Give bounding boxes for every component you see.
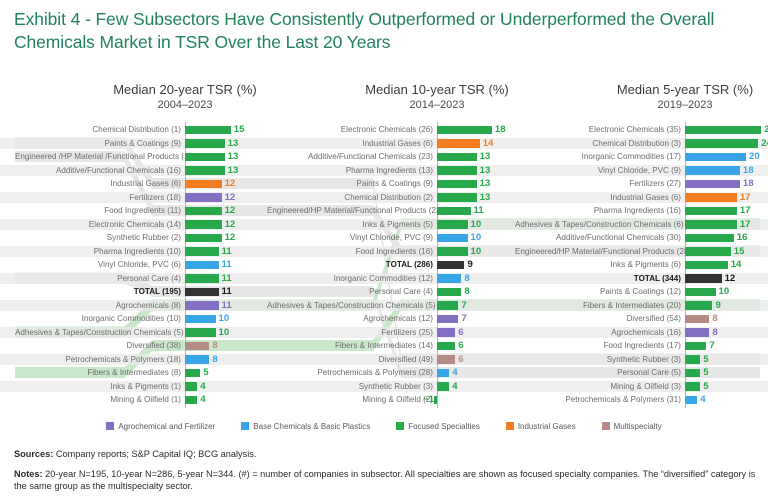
value-bar: [437, 126, 492, 135]
value-bar: [437, 342, 455, 351]
chart-row: Engineered/HP Material/Functional Produc…: [515, 246, 768, 257]
chart-row: Pharma Ingredients (16)17: [515, 205, 768, 216]
value-label: 12: [225, 178, 236, 189]
row-label: Vinyl Chloride, PVC (9): [515, 165, 681, 176]
chart-row: Engineered /HP Material /Functional Prod…: [15, 151, 280, 162]
row-label: TOTAL (344): [515, 273, 681, 284]
value-label: 13: [480, 178, 491, 189]
value-label: 8: [212, 354, 217, 365]
panel-title-5yr: Median 5-year TSR (%): [560, 82, 768, 98]
value-bar: [437, 139, 480, 148]
row-label: Food Ingredients (11): [15, 205, 181, 216]
legend-item: Industrial Gases: [506, 422, 576, 431]
row-label: Fibers & Intermediates (8): [15, 367, 181, 378]
row-label: Personal Care (4): [267, 286, 433, 297]
value-label: 18: [743, 178, 754, 189]
value-bar: [185, 342, 209, 351]
chart-row: Agrochemicals (8)11: [15, 300, 280, 311]
value-bar: [685, 207, 737, 216]
value-label: −1: [407, 394, 434, 405]
row-label: Engineered/HP Material/Functional Produc…: [515, 246, 681, 257]
row-label: Additive/Functional Chemicals (23): [267, 151, 433, 162]
row-label: Inks & Pigments (1): [15, 381, 181, 392]
value-bar: [685, 126, 761, 135]
value-label: 11: [222, 259, 232, 270]
chart-row: Inorganic Commodities (10)10: [15, 313, 280, 324]
value-label: 10: [219, 327, 230, 338]
value-label: 12: [225, 205, 236, 216]
chart-row: Vinyl Chloride, PVC (9)18: [515, 165, 768, 176]
chart-row: Fibers & Intermediates (20)9: [515, 300, 768, 311]
value-label: 17: [740, 205, 751, 216]
chart-row: Petrochemicals & Polymers (31)4: [515, 394, 768, 405]
sources-text: Company reports; S&P Capital IQ; BCG ana…: [53, 449, 256, 459]
value-bar: [685, 288, 716, 297]
value-label: 18: [495, 124, 506, 135]
row-label: Personal Care (4): [15, 273, 181, 284]
chart-row: Vinyl Chloride, PVC (9)10: [267, 232, 532, 243]
legend-label: Multispecialty: [614, 422, 662, 431]
row-label: Synthetic Rubber (3): [515, 354, 681, 365]
chart-row: Food Ingredients (11)12: [15, 205, 280, 216]
row-label: Paints & Coatings (12): [515, 286, 681, 297]
value-bar: [437, 301, 458, 310]
row-label: TOTAL (286): [267, 259, 433, 270]
legend-label: Base Chemicals & Basic Plastics: [253, 422, 370, 431]
chart-row: TOTAL (195)11: [15, 286, 280, 297]
value-bar: [685, 261, 728, 270]
value-label: 11: [222, 273, 232, 284]
row-label: Diversified (49): [267, 354, 433, 365]
value-label: 7: [461, 300, 466, 311]
row-label: Additive/Functional Chemicals (30): [515, 232, 681, 243]
value-bar: [185, 234, 222, 243]
value-bar: [685, 301, 712, 310]
value-label: 8: [464, 273, 469, 284]
panel-subtitle-20yr: 2004–2023: [60, 98, 310, 112]
value-label: 13: [228, 138, 239, 149]
value-label: 11: [222, 300, 232, 311]
value-bar: [185, 274, 219, 283]
value-label: 11: [222, 246, 232, 257]
chart-row: Diversified (49)6: [267, 354, 532, 365]
chart-row: Inks & Pigments (6)14: [515, 259, 768, 270]
value-bar: [185, 328, 216, 337]
row-label: Diversified (54): [515, 313, 681, 324]
chart-row: Personal Care (4)8: [267, 286, 532, 297]
row-label: Engineered /HP Material /Functional Prod…: [15, 151, 181, 162]
value-bar: [685, 234, 734, 243]
legend-item: Base Chemicals & Basic Plastics: [241, 422, 370, 431]
value-bar: [185, 139, 225, 148]
value-bar: [685, 139, 758, 148]
chart-row: Vinyl Chloride, PVC (6)11: [15, 259, 280, 270]
value-bar: [685, 247, 731, 256]
value-label: 7: [461, 313, 466, 324]
value-bar: [437, 315, 458, 324]
value-bar: [185, 207, 222, 216]
value-label: 10: [719, 286, 730, 297]
value-label: 5: [703, 381, 708, 392]
chart-row: Mining & Oilfield (1)4: [15, 394, 280, 405]
row-label: Fibers & Intermediates (14): [267, 340, 433, 351]
chart-row: Diversified (38)8: [15, 340, 280, 351]
chart-row: Industrial Gases (6)12: [15, 178, 280, 189]
legend-swatch-icon: [506, 422, 514, 430]
chart-row: Synthetic Rubber (3)5: [515, 354, 768, 365]
legend-swatch-icon: [396, 422, 404, 430]
sources-line: Sources: Company reports; S&P Capital IQ…: [14, 448, 756, 461]
chart-row: Additive/Functional Chemicals (16)13: [15, 165, 280, 176]
value-label: 12: [725, 273, 736, 284]
legend-item: Multispecialty: [602, 422, 662, 431]
value-bar: [685, 180, 740, 189]
legend-item: Agrochemical and Fertilizer: [106, 422, 215, 431]
legend-label: Agrochemical and Fertilizer: [118, 422, 215, 431]
value-bar: [437, 382, 449, 391]
row-label: Additive/Functional Chemicals (16): [15, 165, 181, 176]
exhibit-title: Exhibit 4 - Few Subsectors Have Consiste…: [14, 8, 754, 54]
row-label: TOTAL (195): [15, 286, 181, 297]
row-label: Industrial Gases (6): [515, 192, 681, 203]
value-label: 18: [743, 165, 754, 176]
row-label: Pharma Ingredients (16): [515, 205, 681, 216]
chart-row: Electronic Chemicals (14)12: [15, 219, 280, 230]
row-label: Inks & Pigments (5): [267, 219, 433, 230]
chart-row: Pharma Ingredients (13)13: [267, 165, 532, 176]
value-bar: [437, 328, 455, 337]
chart-row: Petrochemicals & Polymers (18)8: [15, 354, 280, 365]
value-label: 24: [761, 138, 768, 149]
row-label: Food Ingredients (16): [267, 246, 433, 257]
chart-row: Petrochemicals & Polymers (28)4: [267, 367, 532, 378]
value-bar: [685, 396, 697, 405]
value-label: 17: [740, 219, 751, 230]
value-bar: [185, 396, 197, 405]
value-bar: [685, 166, 740, 175]
value-label: 6: [458, 354, 463, 365]
value-bar: [185, 382, 197, 391]
row-label: Adhesives & Tapes/Construction Chemicals…: [15, 327, 181, 338]
value-label: 6: [458, 340, 463, 351]
row-label: Synthetic Rubber (2): [15, 232, 181, 243]
value-label: 13: [480, 151, 491, 162]
value-bar: [185, 180, 222, 189]
legend-item: Focused Specialties: [396, 422, 480, 431]
row-label: Agrochemicals (16): [515, 327, 681, 338]
legend-swatch-icon: [241, 422, 249, 430]
row-label: Personal Care (5): [515, 367, 681, 378]
panel-header-20yr: Median 20-year TSR (%) 2004–2023: [60, 82, 310, 112]
value-label: 15: [234, 124, 245, 135]
value-bar: [437, 288, 461, 297]
value-label: 4: [452, 381, 457, 392]
value-bar: [685, 274, 722, 283]
row-label: Fibers & Intermediates (20): [515, 300, 681, 311]
value-label: 7: [709, 340, 714, 351]
value-bar: [437, 274, 461, 283]
panel-header-10yr: Median 10-year TSR (%) 2014–2023: [312, 82, 562, 112]
value-label: 10: [471, 219, 482, 230]
legend-label: Focused Specialties: [408, 422, 480, 431]
sources-label: Sources:: [14, 449, 53, 459]
chart-row: Food Ingredients (17)7: [515, 340, 768, 351]
row-label: Fertilizers (27): [515, 178, 681, 189]
chart-row: Electronic Chemicals (26)18: [267, 124, 532, 135]
row-label: Agrochemicals (12): [267, 313, 433, 324]
chart-row: Fertilizers (25)6: [267, 327, 532, 338]
chart-row: Diversified (54)8: [515, 313, 768, 324]
row-label: Food Ingredients (17): [515, 340, 681, 351]
value-bar: [185, 166, 225, 175]
chart-row: Adhesives & Tapes/Construction Chemicals…: [267, 300, 532, 311]
value-bar: [685, 328, 709, 337]
value-bar: [185, 288, 219, 297]
notes-label: Notes:: [14, 469, 43, 479]
row-label: Fertilizers (18): [15, 192, 181, 203]
chart-row: Adhesives & Tapes/Construction Chemicals…: [515, 219, 768, 230]
chart-row: Paints & Coatings (9)13: [267, 178, 532, 189]
chart-row: Food Ingredients (16)10: [267, 246, 532, 257]
chart-row: Inorganic Commodities (12)8: [267, 273, 532, 284]
chart-row: Inks & Pigments (5)10: [267, 219, 532, 230]
value-bar: [685, 342, 706, 351]
value-label: 8: [712, 327, 717, 338]
row-label: Chemical Distribution (1): [15, 124, 181, 135]
value-bar: [685, 220, 737, 229]
chart-row: Pharma Ingredients (10)11: [15, 246, 280, 257]
value-bar: [437, 193, 477, 202]
row-label: Industrial Gases (6): [267, 138, 433, 149]
value-bar: [437, 220, 468, 229]
row-label: Electronic Chemicals (35): [515, 124, 681, 135]
row-label: Vinyl Chloride, PVC (9): [267, 232, 433, 243]
value-label: 9: [467, 259, 472, 270]
value-label: 4: [200, 394, 205, 405]
value-label: 13: [480, 192, 491, 203]
value-label: 5: [203, 367, 208, 378]
chart-row: Fertilizers (18)12: [15, 192, 280, 203]
value-label: 11: [474, 205, 484, 216]
value-bar: [437, 247, 468, 256]
panel-title-10yr: Median 10-year TSR (%): [312, 82, 562, 98]
row-label: Petrochemicals & Polymers (31): [515, 394, 681, 405]
panel-title-20yr: Median 20-year TSR (%): [60, 82, 310, 98]
value-label: 13: [480, 165, 491, 176]
row-label: Inorganic Commodities (17): [515, 151, 681, 162]
value-label: 4: [200, 381, 205, 392]
row-label: Pharma Ingredients (10): [15, 246, 181, 257]
chart-row: Electronic Chemicals (35)25: [515, 124, 768, 135]
notes-text: 20-year N=195, 10-year N=286, 5-year N=3…: [14, 469, 755, 492]
row-label: Chemical Distribution (3): [515, 138, 681, 149]
value-label: 16: [737, 232, 748, 243]
value-label: 4: [452, 367, 457, 378]
value-bar: [437, 355, 455, 364]
chart-row: Agrochemicals (12)7: [267, 313, 532, 324]
value-label: 5: [703, 354, 708, 365]
notes-line: Notes: 20-year N=195, 10-year N=286, 5-y…: [14, 468, 756, 493]
value-bar: [434, 396, 437, 405]
value-bar: [185, 193, 222, 202]
chart-row: Fibers & Intermediates (14)6: [267, 340, 532, 351]
row-label: Electronic Chemicals (14): [15, 219, 181, 230]
row-label: Inorganic Commodities (12): [267, 273, 433, 284]
value-bar: [437, 153, 477, 162]
row-label: Paints & Coatings (9): [267, 178, 433, 189]
row-label: Inorganic Commodities (10): [15, 313, 181, 324]
value-label: 14: [483, 138, 494, 149]
chart-row: Paints & Coatings (9)13: [15, 138, 280, 149]
row-label: Industrial Gases (6): [15, 178, 181, 189]
value-label: 20: [749, 151, 760, 162]
row-label: Fertilizers (25): [267, 327, 433, 338]
panel-header-5yr: Median 5-year TSR (%) 2019–2023: [560, 82, 768, 112]
value-label: 10: [471, 246, 482, 257]
legend-swatch-icon: [106, 422, 114, 430]
row-label: Electronic Chemicals (26): [267, 124, 433, 135]
value-label: 8: [464, 286, 469, 297]
chart-row: Adhesives & Tapes/Construction Chemicals…: [15, 327, 280, 338]
row-label: Inks & Pigments (6): [515, 259, 681, 270]
chart-plot-area: Chemical Distribution (1)15Paints & Coat…: [0, 120, 768, 405]
chart-row: Personal Care (5)5: [515, 367, 768, 378]
panel-subtitle-10yr: 2014–2023: [312, 98, 562, 112]
value-label: 4: [700, 394, 705, 405]
row-label: Petrochemicals & Polymers (18): [15, 354, 181, 365]
value-bar: [185, 315, 216, 324]
row-label: Petrochemicals & Polymers (28): [267, 367, 433, 378]
value-label: 12: [225, 192, 236, 203]
value-bar: [185, 220, 222, 229]
chart-row: Paints & Coatings (12)10: [515, 286, 768, 297]
row-label: Paints & Coatings (9): [15, 138, 181, 149]
value-label: 8: [212, 340, 217, 351]
chart-row: Chemical Distribution (1)15: [15, 124, 280, 135]
value-label: 17: [740, 192, 751, 203]
value-bar: [437, 180, 477, 189]
value-label: 13: [228, 165, 239, 176]
value-label: 25: [764, 124, 768, 135]
chart-row: Additive/Functional Chemicals (30)16: [515, 232, 768, 243]
chart-row: Additive/Functional Chemicals (23)13: [267, 151, 532, 162]
value-bar: [685, 355, 700, 364]
chart-row: Inorganic Commodities (17)20: [515, 151, 768, 162]
value-label: 6: [458, 327, 463, 338]
value-bar: [185, 261, 219, 270]
chart-row: Fibers & Intermediates (8)5: [15, 367, 280, 378]
row-label: Adhesives & Tapes/Construction Chemicals…: [267, 300, 433, 311]
row-label: Adhesives & Tapes/Construction Chemicals…: [515, 219, 681, 230]
value-label: 12: [225, 219, 236, 230]
chart-legend: Agrochemical and FertilizerBase Chemical…: [0, 418, 768, 436]
value-label: 12: [225, 232, 236, 243]
value-bar: [437, 369, 449, 378]
chart-row: TOTAL (344)12: [515, 273, 768, 284]
chart-row: Mining & Oilfield (3)5: [515, 381, 768, 392]
row-label: Diversified (38): [15, 340, 181, 351]
row-label: Pharma Ingredients (13): [267, 165, 433, 176]
value-label: 14: [731, 259, 742, 270]
row-label: Chemical Distribution (2): [267, 192, 433, 203]
chart-row: Chemical Distribution (3)24: [515, 138, 768, 149]
value-label: 15: [734, 246, 745, 257]
value-bar: [437, 207, 471, 216]
value-bar: [185, 247, 219, 256]
chart-row: Industrial Gases (6)14: [267, 138, 532, 149]
legend-swatch-icon: [602, 422, 610, 430]
value-label: 10: [471, 232, 482, 243]
row-label: Mining & Oilfield (1): [15, 394, 181, 405]
value-bar: [685, 369, 700, 378]
chart-row: Agrochemicals (16)8: [515, 327, 768, 338]
legend-label: Industrial Gases: [518, 422, 576, 431]
row-label: Mining & Oilfield (3): [515, 381, 681, 392]
chart-row: Synthetic Rubber (2)12: [15, 232, 280, 243]
chart-row: Fertilizers (27)18: [515, 178, 768, 189]
chart-row: Personal Care (4)11: [15, 273, 280, 284]
panel-subtitle-5yr: 2019–2023: [560, 98, 768, 112]
chart-row: Industrial Gases (6)17: [515, 192, 768, 203]
value-bar: [437, 166, 477, 175]
value-label: 5: [703, 367, 708, 378]
value-label: 10: [219, 313, 230, 324]
chart-row: TOTAL (286)9: [267, 259, 532, 270]
value-bar: [185, 126, 231, 135]
row-label: Vinyl Chloride, PVC (6): [15, 259, 181, 270]
value-bar: [185, 355, 209, 364]
row-label: Agrochemicals (8): [15, 300, 181, 311]
chart-row: Synthetic Rubber (3)4: [267, 381, 532, 392]
value-bar: [185, 369, 200, 378]
chart-row: Inks & Pigments (1)4: [15, 381, 280, 392]
value-bar: [685, 315, 709, 324]
value-label: 11: [222, 286, 232, 297]
value-bar: [185, 153, 225, 162]
row-label: Synthetic Rubber (3): [267, 381, 433, 392]
value-label: 9: [715, 300, 720, 311]
value-bar: [437, 261, 464, 270]
footnotes: Sources: Company reports; S&P Capital IQ…: [14, 448, 756, 500]
row-label: Engineered/HP Material/Functional Produc…: [267, 205, 433, 216]
chart-row: Mining & Oilfield (2)−1: [267, 394, 532, 405]
value-label: 13: [228, 151, 239, 162]
value-bar: [185, 301, 219, 310]
value-bar: [437, 234, 468, 243]
chart-row: Chemical Distribution (2)13: [267, 192, 532, 203]
value-label: 8: [712, 313, 717, 324]
value-bar: [685, 193, 737, 202]
value-bar: [685, 382, 700, 391]
chart-row: Engineered/HP Material/Functional Produc…: [267, 205, 532, 216]
value-bar: [685, 153, 746, 162]
